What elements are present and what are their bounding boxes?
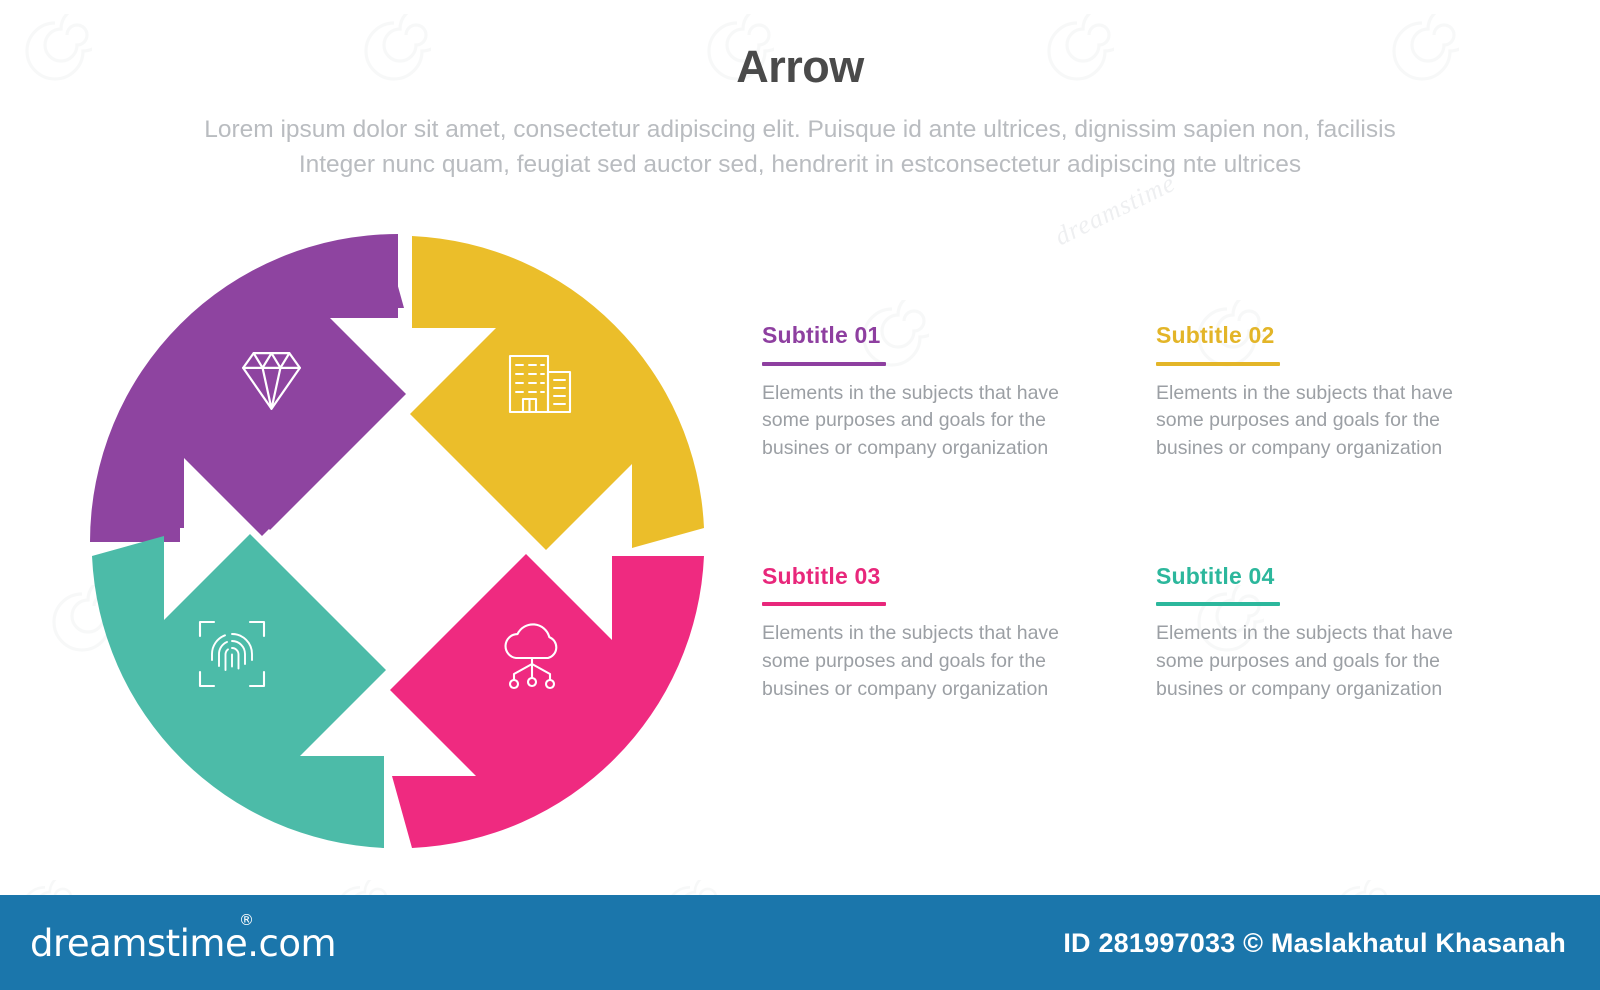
card-subtitle-02[interactable]: Subtitle 02 Elements in the subjects tha… [1156,322,1492,463]
card-subtitle-01[interactable]: Subtitle 01 Elements in the subjects tha… [762,322,1098,463]
card-body: Elements in the subjects that have some … [762,620,1098,703]
infographic-slide: dreamstime dreamstime Arrow Lorem ipsum … [0,0,1600,990]
card-underline [762,602,886,606]
cards-grid: Subtitle 01 Elements in the subjects tha… [762,322,1492,703]
page-description: Lorem ipsum dolor sit amet, consectetur … [90,113,1510,183]
page-title: Arrow [0,0,1600,89]
card-subtitle-03[interactable]: Subtitle 03 Elements in the subjects tha… [762,563,1098,704]
card-title: Subtitle 04 [1156,563,1492,591]
cards-row-2: Subtitle 03 Elements in the subjects tha… [762,563,1492,704]
card-body: Elements in the subjects that have some … [1156,620,1492,703]
card-body: Elements in the subjects that have some … [1156,380,1492,463]
card-underline [1156,602,1280,606]
image-credit: ID 281997033 © Maslakhatul Khasanah [1063,928,1566,959]
card-title: Subtitle 01 [762,322,1098,350]
description-line-2: Integer nunc quam, feugiat sed auctor se… [90,148,1510,183]
card-subtitle-04[interactable]: Subtitle 04 Elements in the subjects tha… [1156,563,1492,704]
diagram-svg [88,232,708,852]
cyclic-arrow-diagram [88,232,708,852]
card-title: Subtitle 02 [1156,322,1492,350]
dreamstime-logo[interactable]: dreamstime.com ® [30,922,336,965]
registered-mark-icon: ® [239,911,254,929]
card-underline [1156,362,1280,366]
card-title: Subtitle 03 [762,563,1098,591]
cards-row-1: Subtitle 01 Elements in the subjects tha… [762,322,1492,463]
dreamstime-logo-text: dreamstime.com [30,922,336,965]
header: Arrow Lorem ipsum dolor sit amet, consec… [0,0,1600,183]
description-line-1: Lorem ipsum dolor sit amet, consectetur … [204,116,1396,143]
card-body: Elements in the subjects that have some … [762,380,1098,463]
footer-bar: dreamstime.com ® ID 281997033 © Maslakha… [0,895,1600,990]
card-underline [762,362,886,366]
